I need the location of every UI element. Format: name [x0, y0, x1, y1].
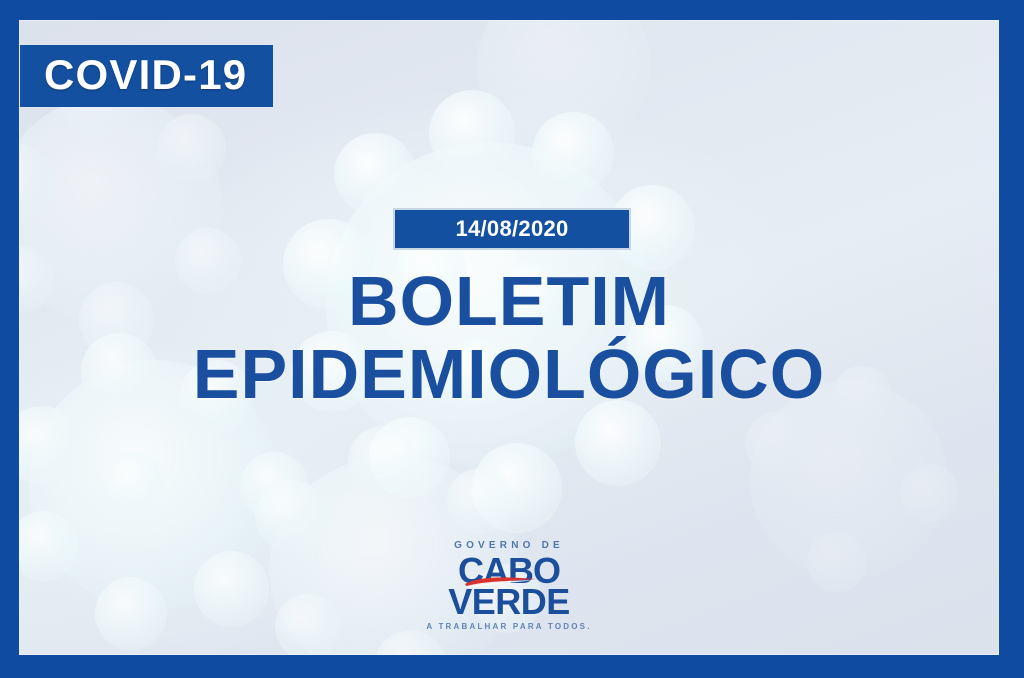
virus-particle-icon [449, 20, 679, 180]
governo-cabo-verde-logo: GOVERNO DE CABO VERDE A TRABALHAR PARA T… [19, 540, 999, 631]
logo-cabo-label: CABO [458, 554, 560, 587]
poster-inner-panel: COVID-19 14/08/2020 BOLETIM EPIDEMIOLÓGI… [19, 20, 999, 655]
bulletin-poster: COVID-19 14/08/2020 BOLETIM EPIDEMIOLÓGI… [0, 0, 1024, 678]
covid-19-badge: COVID-19 [20, 45, 273, 107]
logo-tagline: A TRABALHAR PARA TODOS. [19, 622, 999, 631]
bulletin-date-badge: 14/08/2020 [393, 208, 631, 250]
title-line-epidemiologico: EPIDEMIOLÓGICO [19, 341, 999, 408]
logo-cabo-wrapper: CABO [458, 554, 560, 587]
title-line-boletim: BOLETIM [19, 268, 999, 335]
bulletin-date-text: 14/08/2020 [455, 216, 568, 242]
poster-title: BOLETIM EPIDEMIOLÓGICO [19, 268, 999, 407]
